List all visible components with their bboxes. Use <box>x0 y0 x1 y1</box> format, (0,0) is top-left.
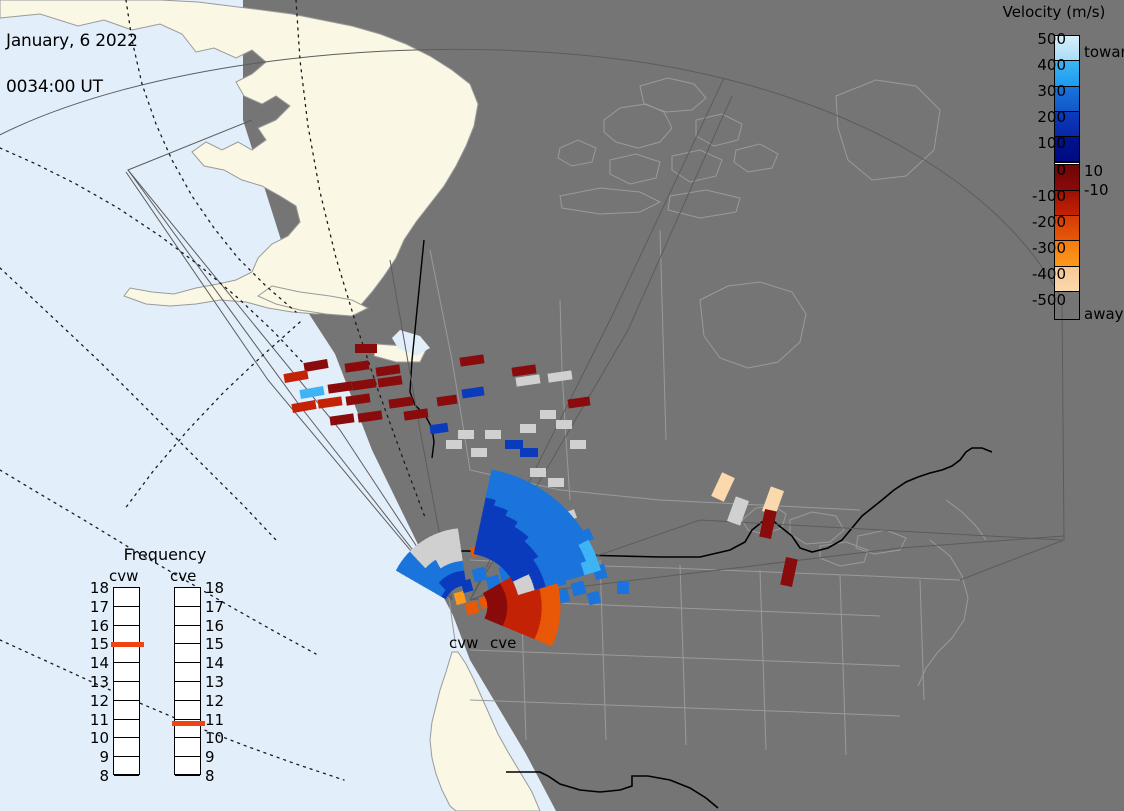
frequency-cell <box>175 738 200 757</box>
site-label-cve: cve <box>490 634 516 652</box>
frequency-tick-left-18: 18 <box>87 583 109 593</box>
time-label: 0034:00 UT <box>6 79 138 95</box>
frequency-cell <box>114 588 139 607</box>
colorbar-tick-500: 500 <box>1008 34 1066 44</box>
frequency-cell <box>175 607 200 626</box>
colorbar-title: Velocity (m/s) <box>984 3 1124 21</box>
frequency-cell <box>175 682 200 701</box>
velocity-cell <box>520 448 538 457</box>
velocity-cell <box>458 430 474 439</box>
velocity-cell <box>446 440 462 449</box>
frequency-tick-right-11: 11 <box>205 715 224 725</box>
frequency-cell <box>114 607 139 626</box>
velocity-cell <box>556 420 572 429</box>
frequency-cell <box>114 757 139 776</box>
frequency-title: Frequency <box>85 545 245 564</box>
colorbar-negative-threshold-label: -10 <box>1084 185 1109 195</box>
date-label: January, 6 2022 <box>6 33 138 49</box>
frequency-tick-right-15: 15 <box>205 639 224 649</box>
frequency-tick-right-12: 12 <box>205 696 224 706</box>
frequency-cell <box>175 757 200 776</box>
frequency-tick-left-15: 15 <box>87 639 109 649</box>
timestamp-block: January, 6 2022 0034:00 UT <box>6 1 138 127</box>
frequency-cell <box>175 588 200 607</box>
velocity-cell <box>540 410 556 419</box>
colorbar-tick-neg100: -100 <box>1008 191 1066 201</box>
frequency-tick-left-17: 17 <box>87 602 109 612</box>
frequency-tick-right-8: 8 <box>205 771 215 781</box>
colorbar-tick-neg500: -500 <box>1008 295 1066 305</box>
frequency-bar-cvw <box>113 587 140 775</box>
colorbar-positive-threshold-label: 10 <box>1084 166 1103 176</box>
frequency-tick-right-9: 9 <box>205 752 215 762</box>
frequency-tick-left-12: 12 <box>87 696 109 706</box>
frequency-tick-right-17: 17 <box>205 602 224 612</box>
velocity-cell <box>520 424 536 433</box>
colorbar-tick-200: 200 <box>1008 112 1066 122</box>
colorbar-tick-400: 400 <box>1008 60 1066 70</box>
frequency-tick-left-9: 9 <box>87 752 109 762</box>
colorbar-tick-0: 0 <box>1008 165 1066 175</box>
colorbar-tick-neg200: -200 <box>1008 217 1066 227</box>
frequency-marker-cvw <box>111 642 144 647</box>
frequency-tick-right-10: 10 <box>205 733 224 743</box>
velocity-cell <box>451 528 459 537</box>
frequency-tick-left-8: 8 <box>87 771 109 781</box>
frequency-tick-right-14: 14 <box>205 658 224 668</box>
frequency-cell <box>175 626 200 645</box>
velocity-cell <box>355 344 377 353</box>
frequency-cell <box>114 720 139 739</box>
frequency-cell <box>114 738 139 757</box>
velocity-colorbar: Velocity (m/s) 5004003002001000-100-200-… <box>984 0 1124 340</box>
velocity-cell <box>570 440 586 449</box>
velocity-cell <box>471 448 487 457</box>
frequency-panel: Frequency cvw cve 18171615141312111098 1… <box>85 545 245 790</box>
frequency-tick-left-14: 14 <box>87 658 109 668</box>
frequency-cell <box>175 701 200 720</box>
frequency-bar-cve <box>174 587 201 775</box>
frequency-tick-left-13: 13 <box>87 677 109 687</box>
frequency-cell <box>114 682 139 701</box>
velocity-cell <box>485 430 501 439</box>
velocity-cell <box>530 468 546 477</box>
velocity-cell <box>548 478 564 487</box>
colorbar-toward-label: toward <box>1084 47 1124 57</box>
frequency-cell <box>175 663 200 682</box>
site-label-cvw: cvw <box>449 634 478 652</box>
colorbar-tick-100: 100 <box>1008 138 1066 148</box>
frequency-cell <box>175 644 200 663</box>
frequency-tick-right-18: 18 <box>205 583 224 593</box>
frequency-tick-right-16: 16 <box>205 621 224 631</box>
frequency-tick-left-10: 10 <box>87 733 109 743</box>
colorbar-tick-300: 300 <box>1008 86 1066 96</box>
velocity-cell <box>617 582 629 594</box>
frequency-column-label-cve: cve <box>170 567 196 585</box>
frequency-tick-right-13: 13 <box>205 677 224 687</box>
frequency-tick-left-11: 11 <box>87 715 109 725</box>
radar-map-figure: January, 6 2022 0034:00 UT Velocity (m/s… <box>0 0 1124 811</box>
frequency-cell <box>114 701 139 720</box>
frequency-cell <box>114 663 139 682</box>
frequency-tick-left-16: 16 <box>87 621 109 631</box>
colorbar-tick-neg300: -300 <box>1008 243 1066 253</box>
colorbar-away-label: away <box>1084 309 1124 319</box>
frequency-marker-cve <box>172 721 205 726</box>
velocity-cell <box>505 440 523 449</box>
colorbar-tick-neg400: -400 <box>1008 269 1066 279</box>
frequency-column-label-cvw: cvw <box>109 567 138 585</box>
